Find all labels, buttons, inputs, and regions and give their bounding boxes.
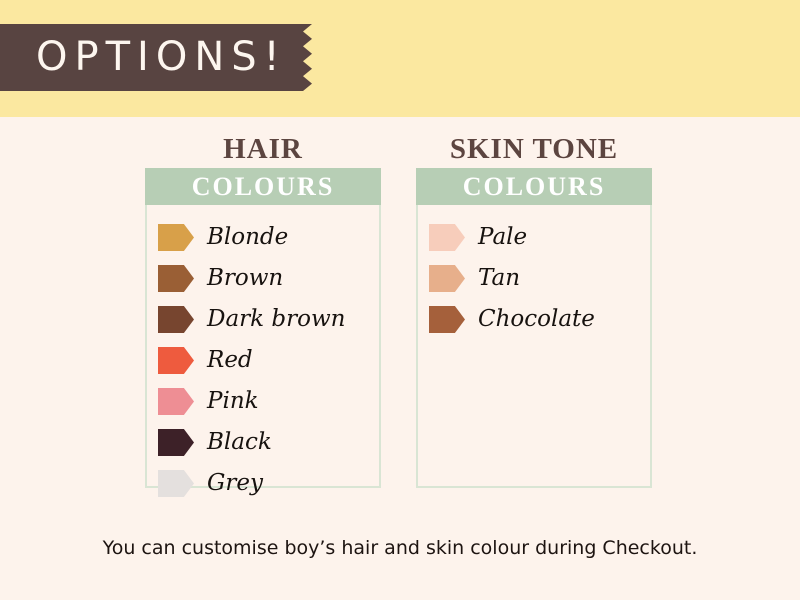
list-item[interactable]: Dark brown <box>147 299 379 340</box>
card-header-skin-tone: COLOURS <box>416 168 652 205</box>
footer-note: You can customise boy’s hair and skin co… <box>0 537 800 559</box>
list-item[interactable]: Tan <box>418 258 650 299</box>
swatch-chip-red <box>158 347 194 374</box>
swatch-chip-dark-brown <box>158 306 194 333</box>
swatch-chip-brown <box>158 265 194 292</box>
swatch-chip-pale <box>429 224 465 251</box>
column-title-skin-tone: SKIN TONE <box>416 130 652 168</box>
card-header-hair: COLOURS <box>145 168 381 205</box>
list-item[interactable]: Black <box>147 422 379 463</box>
card-skin-tone-colours: COLOURS Pale Tan Chocolate <box>416 168 652 488</box>
list-item[interactable]: Pink <box>147 381 379 422</box>
list-item[interactable]: Red <box>147 340 379 381</box>
column-skin-tone: SKIN TONE COLOURS Pale Tan Chocolate <box>416 130 652 488</box>
swatch-chip-pink <box>158 388 194 415</box>
card-hair-colours: COLOURS Blonde Brown Dark brown Red <box>145 168 381 488</box>
swatch-label: Black <box>207 431 272 454</box>
swatch-chip-grey <box>158 470 194 497</box>
banner-title: OPTIONS! <box>36 24 287 91</box>
swatch-list-hair: Blonde Brown Dark brown Red Pink <box>147 205 379 504</box>
swatch-label: Tan <box>478 267 520 290</box>
column-title-hair: HAIR <box>145 130 381 168</box>
swatch-label: Grey <box>207 472 263 495</box>
swatch-chip-chocolate <box>429 306 465 333</box>
swatch-label: Red <box>207 349 253 372</box>
list-item[interactable]: Brown <box>147 258 379 299</box>
swatch-chip-blonde <box>158 224 194 251</box>
list-item[interactable]: Grey <box>147 463 379 504</box>
swatch-chip-tan <box>429 265 465 292</box>
list-item[interactable]: Chocolate <box>418 299 650 340</box>
swatch-label: Pink <box>207 390 259 413</box>
swatch-list-skin-tone: Pale Tan Chocolate <box>418 205 650 340</box>
swatch-label: Chocolate <box>478 308 595 331</box>
swatch-label: Brown <box>207 267 283 290</box>
swatch-label: Blonde <box>207 226 288 249</box>
list-item[interactable]: Blonde <box>147 217 379 258</box>
swatch-chip-black <box>158 429 194 456</box>
swatch-label: Dark brown <box>207 308 345 331</box>
swatch-label: Pale <box>478 226 527 249</box>
column-hair: HAIR COLOURS Blonde Brown Dark brown <box>145 130 381 488</box>
options-ribbon-banner: OPTIONS! <box>0 24 340 91</box>
list-item[interactable]: Pale <box>418 217 650 258</box>
